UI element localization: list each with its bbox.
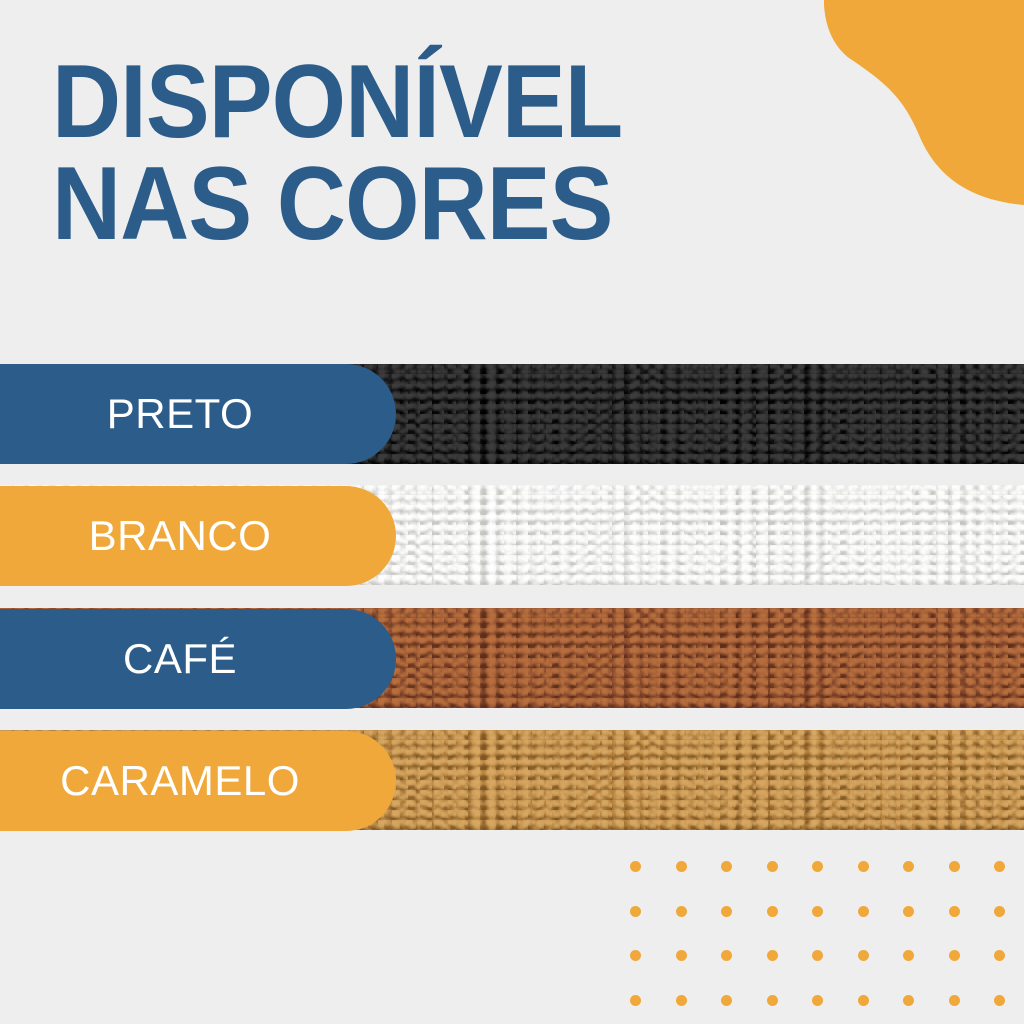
decorative-dot [812, 861, 823, 872]
decorative-dot [994, 950, 1005, 961]
decorative-dot [676, 995, 687, 1006]
decorative-dot [721, 995, 732, 1006]
decorative-dot [949, 995, 960, 1006]
decorative-dot [767, 950, 778, 961]
poster-canvas: DISPONÍVEL NAS CORES PRETOBRANCOCAFÉCARA… [0, 0, 1024, 1024]
decorative-dot [676, 906, 687, 917]
decorative-dot [858, 995, 869, 1006]
orange-dot-grid [0, 0, 1024, 1024]
decorative-dot [903, 861, 914, 872]
decorative-dot [630, 861, 641, 872]
decorative-dot [949, 861, 960, 872]
decorative-dot [630, 950, 641, 961]
decorative-dot [767, 861, 778, 872]
decorative-dot [721, 950, 732, 961]
decorative-dot [721, 861, 732, 872]
decorative-dot [858, 861, 869, 872]
decorative-dot [949, 950, 960, 961]
decorative-dot [903, 906, 914, 917]
decorative-dot [903, 995, 914, 1006]
decorative-dot [630, 906, 641, 917]
decorative-dot [994, 906, 1005, 917]
decorative-dot [994, 995, 1005, 1006]
decorative-dot [767, 995, 778, 1006]
decorative-dot [812, 950, 823, 961]
decorative-dot [949, 906, 960, 917]
decorative-dot [903, 950, 914, 961]
decorative-dot [676, 861, 687, 872]
decorative-dot [630, 995, 641, 1006]
decorative-dot [676, 950, 687, 961]
decorative-dot [994, 861, 1005, 872]
decorative-dot [767, 906, 778, 917]
decorative-dot [812, 906, 823, 917]
decorative-dot [858, 906, 869, 917]
decorative-dot [812, 995, 823, 1006]
decorative-dot [858, 950, 869, 961]
decorative-dot [721, 906, 732, 917]
